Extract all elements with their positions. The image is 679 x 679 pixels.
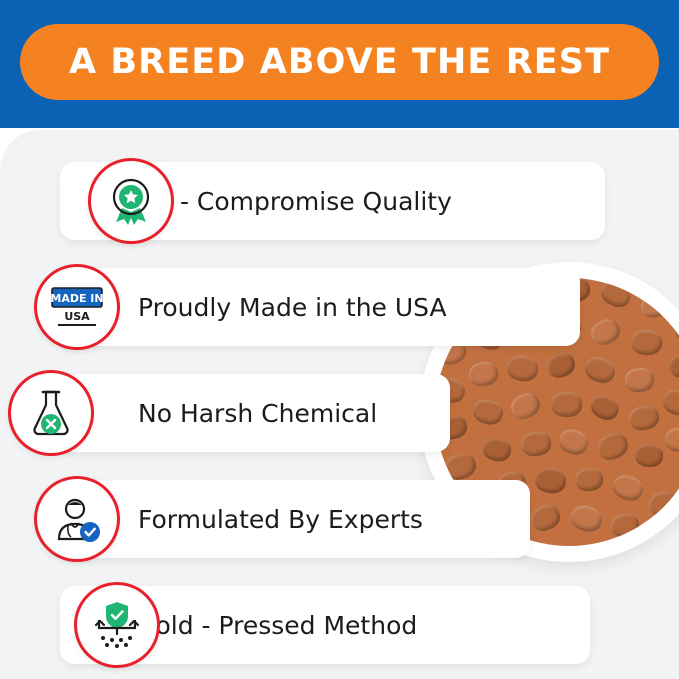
quality-ribbon-badge-icon bbox=[88, 158, 174, 244]
made-in-usa-icon: MADE IN USA bbox=[34, 264, 120, 350]
feature-row: Proudly Made in the USA MADE IN USA bbox=[0, 254, 679, 360]
feature-label: No - Compromise Quality bbox=[138, 187, 474, 216]
feature-label: No Harsh Chemical bbox=[138, 399, 399, 428]
headline-text: A BREED ABOVE THE REST bbox=[69, 42, 610, 82]
feature-label: Cold - Pressed Method bbox=[138, 611, 439, 640]
feature-label: Formulated By Experts bbox=[138, 505, 445, 534]
feature-row: No Harsh Chemical bbox=[0, 360, 679, 466]
feature-card: Proudly Made in the USA bbox=[60, 268, 580, 346]
feature-label: Proudly Made in the USA bbox=[138, 293, 469, 322]
headline-banner: A BREED ABOVE THE REST bbox=[20, 24, 659, 100]
expert-veterinarian-icon bbox=[34, 476, 120, 562]
feature-card: Formulated By Experts bbox=[60, 480, 530, 558]
no-chemicals-flask-icon bbox=[8, 370, 94, 456]
cold-pressed-shield-icon bbox=[74, 582, 160, 668]
product-feature-poster: A BREED ABOVE THE REST bbox=[0, 0, 679, 679]
feature-card: No Harsh Chemical bbox=[60, 374, 450, 452]
svg-text:MADE IN: MADE IN bbox=[50, 292, 103, 305]
feature-row: No - Compromise Quality bbox=[0, 148, 679, 254]
feature-list: No - Compromise Quality Proudly Made in … bbox=[0, 148, 679, 678]
feature-row: Formulated By Experts bbox=[0, 466, 679, 572]
svg-text:USA: USA bbox=[64, 310, 90, 323]
feature-row: Cold - Pressed Method bbox=[0, 572, 679, 678]
